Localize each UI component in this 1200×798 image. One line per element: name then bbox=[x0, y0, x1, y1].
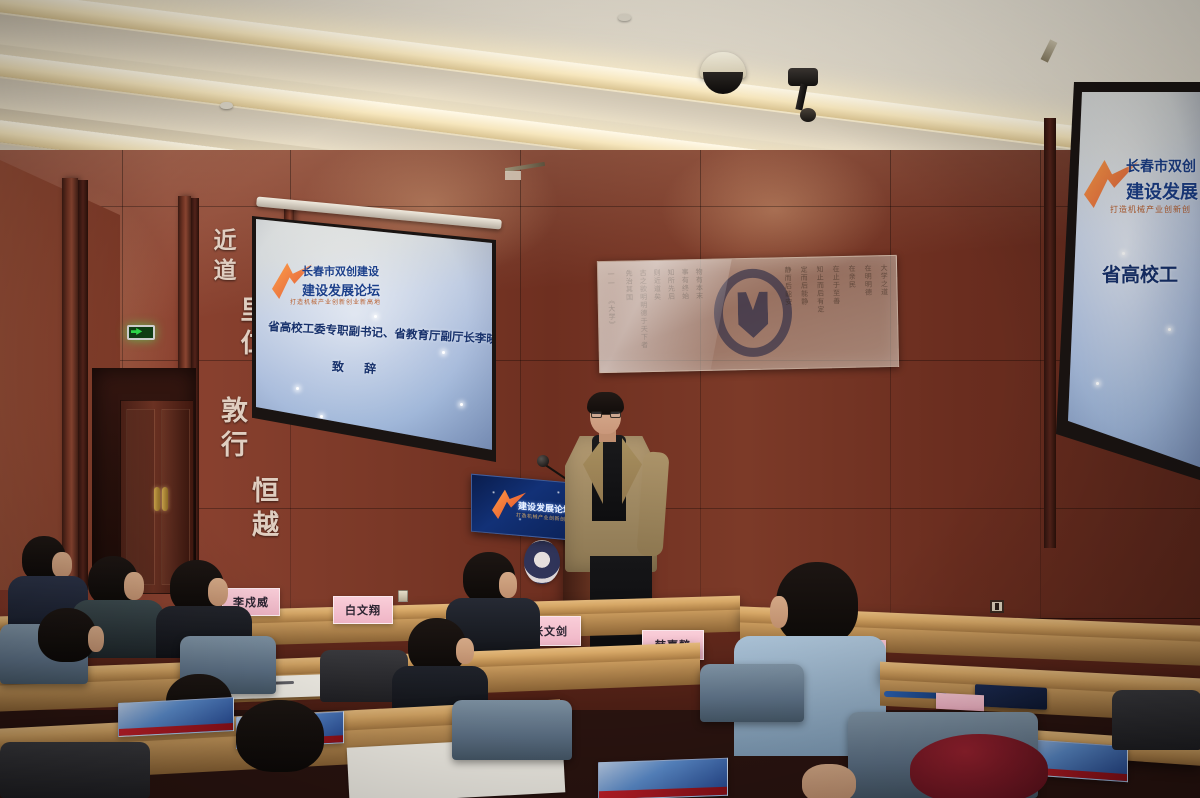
wall-camera-mount bbox=[800, 108, 816, 122]
screen-logo-title2: 建设发展 bbox=[1126, 178, 1198, 204]
chair[interactable] bbox=[452, 700, 572, 760]
conference-booklet bbox=[598, 758, 728, 798]
screen-sparkle bbox=[460, 403, 463, 406]
water-bottle bbox=[290, 632, 304, 672]
screen-headline-right: 省高校工 bbox=[1102, 260, 1178, 287]
wall-outlet bbox=[398, 590, 408, 602]
screen-logo-title: 长春市双创 bbox=[1126, 156, 1198, 176]
wall-outlet bbox=[990, 600, 1004, 613]
calligraphy-dunxing: 敦行 bbox=[212, 396, 251, 464]
screen-logo-title: 长春市双创建设 bbox=[302, 263, 380, 279]
screen-logo-subtitle: 打造机械产业创新创业新高地 bbox=[290, 297, 381, 306]
screen-logo-subtitle: 打造机械产业创新创 bbox=[1110, 204, 1191, 215]
calligraphy-jindao: 近道 bbox=[205, 228, 239, 288]
plaque-text-column: 定而后能静 bbox=[799, 266, 809, 306]
projector-mount-bracket bbox=[505, 171, 521, 180]
plaque-text-column: 静而后能安 bbox=[783, 266, 793, 306]
pink-document bbox=[936, 693, 984, 712]
attendee-head bbox=[776, 562, 858, 646]
smoke-detector bbox=[618, 14, 631, 21]
attendee-face bbox=[208, 578, 228, 606]
water-bottle bbox=[364, 590, 378, 630]
attendee-head bbox=[236, 700, 324, 772]
calligraphy-hengyue: 恒越 bbox=[243, 476, 282, 544]
attendee-face bbox=[456, 638, 474, 664]
plaque-text-column: 在明明德 bbox=[863, 264, 873, 296]
plaque-glare bbox=[597, 255, 734, 373]
water-bottle bbox=[890, 650, 904, 690]
attendee-face bbox=[88, 626, 104, 652]
attendee-face bbox=[499, 572, 517, 598]
attendee-face bbox=[802, 764, 856, 798]
glasses-lens-left bbox=[591, 411, 602, 418]
plaque-text-column: 大学之道 bbox=[879, 264, 889, 296]
door-handle[interactable] bbox=[154, 487, 160, 511]
screen-sparkle bbox=[374, 315, 377, 318]
chair[interactable] bbox=[1112, 690, 1200, 750]
glasses-bridge bbox=[602, 414, 610, 415]
conference-hall-photo: 近道 里仁 敦行 恒越 大学之道 在明明德 在亲民 在止于至善 知止而后有定 定… bbox=[0, 0, 1200, 798]
plaque-text-column: 在止于至善 bbox=[831, 265, 841, 305]
water-bottle bbox=[304, 586, 318, 626]
screen-logo-right: 长春市双创 建设发展 打造机械产业创新创 bbox=[1084, 152, 1200, 222]
door-panel bbox=[126, 409, 155, 585]
water-bottle bbox=[2, 676, 16, 716]
dome-camera-lens-icon bbox=[703, 72, 743, 94]
plaque-text-column: 在亲民 bbox=[847, 265, 857, 289]
wall-plaque: 大学之道 在明明德 在亲民 在止于至善 知止而后有定 定而后能静 静而后能安 物… bbox=[597, 255, 899, 373]
projector-mount bbox=[505, 155, 545, 181]
screen-sparkle bbox=[1096, 382, 1099, 385]
screen-sparkle bbox=[296, 387, 299, 390]
chair[interactable] bbox=[700, 664, 804, 722]
microphone-head-icon bbox=[537, 455, 549, 467]
attendee-face bbox=[770, 596, 788, 628]
smoke-detector bbox=[220, 102, 233, 109]
chair[interactable] bbox=[0, 742, 150, 798]
door-handle[interactable] bbox=[162, 487, 168, 511]
conference-booklet bbox=[118, 697, 234, 737]
attendee-face bbox=[124, 572, 144, 600]
university-emblem-icon bbox=[524, 540, 560, 584]
water-bottle bbox=[430, 680, 444, 720]
wall-pillar-left bbox=[62, 178, 78, 598]
dome-camera bbox=[700, 52, 746, 94]
red-beanie-hat bbox=[910, 734, 1048, 798]
screen-sparkle bbox=[320, 415, 323, 418]
water-bottle bbox=[546, 660, 560, 700]
wall-trim-left bbox=[78, 180, 88, 590]
exit-running-man-icon bbox=[131, 328, 151, 337]
water-bottle bbox=[640, 700, 658, 752]
document-folder bbox=[975, 684, 1047, 710]
glasses-lens-right bbox=[610, 411, 621, 418]
projection-screen-right: 长春市双创 建设发展 打造机械产业创新创 省高校工 bbox=[1068, 92, 1200, 470]
screen-sparkle bbox=[442, 351, 445, 354]
attendee-face bbox=[52, 552, 72, 578]
screen-subline-left: 致 辞 bbox=[332, 358, 385, 378]
wall-camera-arm bbox=[795, 84, 807, 111]
booklet-red-band bbox=[599, 787, 727, 798]
glasses-icon bbox=[591, 411, 621, 418]
water-bottle bbox=[48, 686, 62, 726]
screen-sparkle bbox=[1168, 328, 1171, 331]
name-card-bai: 白文翔 bbox=[333, 596, 393, 624]
screen-sparkle bbox=[1122, 252, 1125, 255]
exit-sign bbox=[127, 325, 155, 340]
wall-trim-right bbox=[1044, 118, 1056, 548]
wall-camera bbox=[786, 68, 820, 124]
plaque-text-column: 知止而后有定 bbox=[815, 265, 825, 313]
screen-logo-left: 长春市双创建设 建设发展论坛 打造机械产业创新创业新高地 bbox=[272, 261, 422, 307]
